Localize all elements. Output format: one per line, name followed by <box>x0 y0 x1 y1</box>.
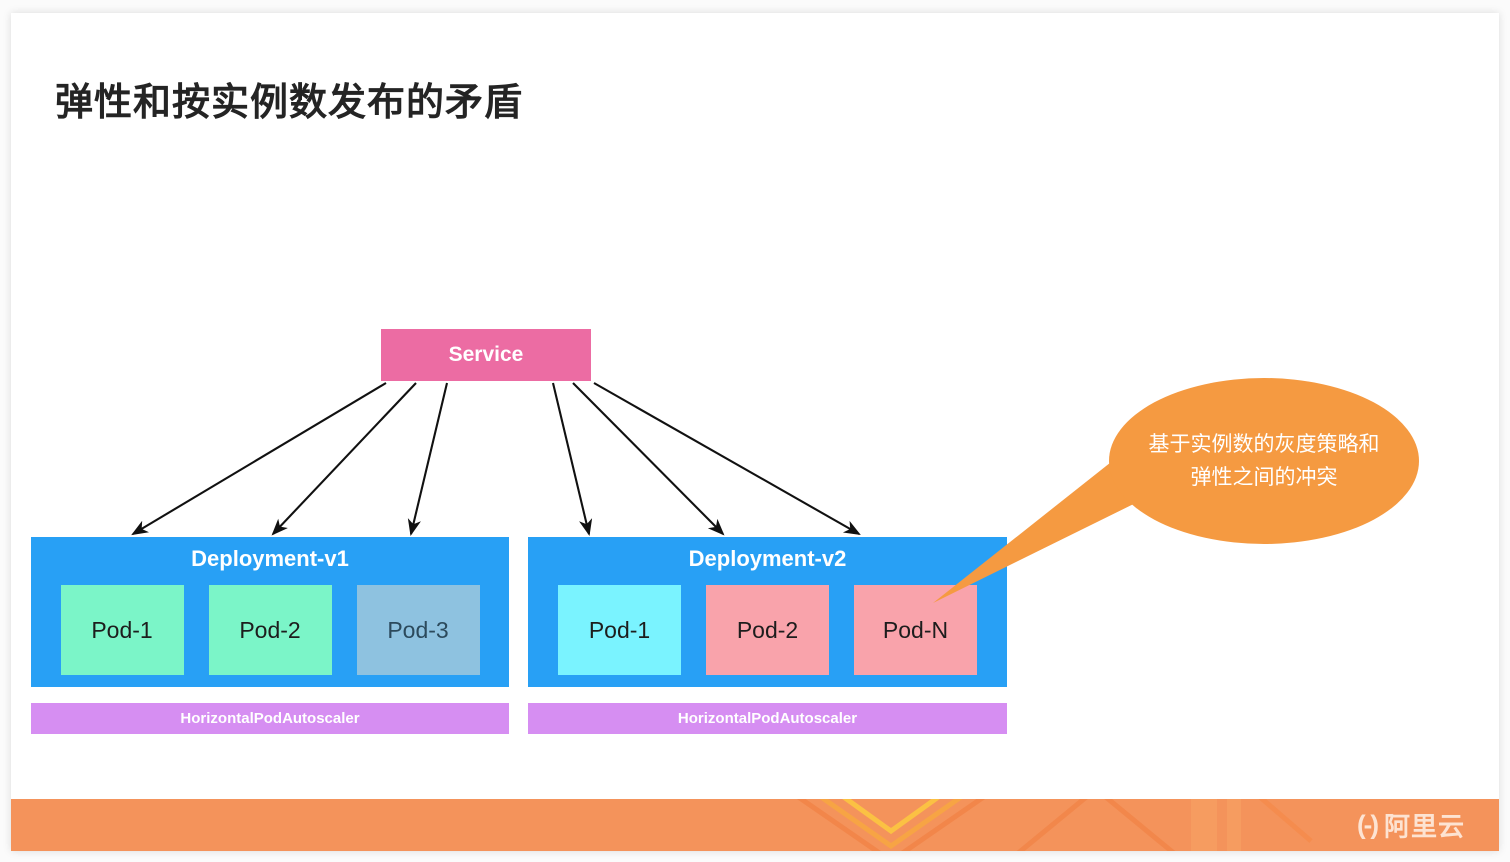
deployment-v1-pods: Pod-1 Pod-2 Pod-3 <box>31 584 509 676</box>
pod-v2-2[interactable]: Pod-2 <box>706 585 829 675</box>
arrow-service-to-v1-c <box>411 383 447 534</box>
node-service[interactable]: Service <box>381 329 591 381</box>
deployment-v1-title: Deployment-v1 <box>31 546 509 572</box>
deployment-v2-pods: Pod-1 Pod-2 Pod-N <box>528 584 1007 676</box>
arrow-service-to-v1-b <box>273 383 416 534</box>
callout-text-line1: 基于实例数的灰度策略和 <box>1124 428 1404 461</box>
pod-v1-3-label: Pod-3 <box>387 617 448 644</box>
pod-v1-1-label: Pod-1 <box>91 617 152 644</box>
node-deployment-v1[interactable]: Deployment-v1 Pod-1 Pod-2 Pod-3 <box>31 537 509 687</box>
screenshot-root: 弹性和按实例数发布的矛盾 <box>0 0 1510 862</box>
hpa-bar-v2-label: HorizontalPodAutoscaler <box>678 710 857 727</box>
hpa-bar-v1-label: HorizontalPodAutoscaler <box>180 710 359 727</box>
pod-v1-3[interactable]: Pod-3 <box>357 585 480 675</box>
pod-v2-1-label: Pod-1 <box>589 617 650 644</box>
architecture-diagram: Service Deployment-v1 Pod-1 Pod-2 Pod-3 <box>11 13 1499 851</box>
alibaba-cloud-mark-icon: (-) <box>1357 810 1377 841</box>
arrow-service-to-v2-b <box>573 383 723 534</box>
callout-text-line2: 弹性之间的冲突 <box>1124 461 1404 494</box>
pod-v1-2-label: Pod-2 <box>239 617 300 644</box>
pod-v2-n[interactable]: Pod-N <box>854 585 977 675</box>
deployment-v2-title: Deployment-v2 <box>528 546 1007 572</box>
callout-bubble[interactable]: 基于实例数的灰度策略和 弹性之间的冲突 <box>1109 378 1419 544</box>
pod-v2-2-label: Pod-2 <box>737 617 798 644</box>
brand-logo: (-) 阿里云 <box>1357 807 1465 844</box>
footer-band: (-) 阿里云 <box>11 799 1499 851</box>
arrow-service-to-v2-c <box>594 383 859 534</box>
node-service-label: Service <box>449 343 524 367</box>
brand-name-label: 阿里云 <box>1384 807 1465 844</box>
node-deployment-v2[interactable]: Deployment-v2 Pod-1 Pod-2 Pod-N <box>528 537 1007 687</box>
slide-canvas: 弹性和按实例数发布的矛盾 <box>11 13 1499 851</box>
hpa-bar-v2[interactable]: HorizontalPodAutoscaler <box>528 703 1007 734</box>
pod-v2-n-label: Pod-N <box>883 617 948 644</box>
hpa-bar-v1[interactable]: HorizontalPodAutoscaler <box>31 703 509 734</box>
arrow-service-to-v1-a <box>133 383 386 534</box>
footer-chevron-pattern <box>11 799 1499 851</box>
pod-v1-1[interactable]: Pod-1 <box>61 585 184 675</box>
pod-v2-1[interactable]: Pod-1 <box>558 585 681 675</box>
pod-v1-2[interactable]: Pod-2 <box>209 585 332 675</box>
arrow-service-to-v2-a <box>553 383 589 534</box>
